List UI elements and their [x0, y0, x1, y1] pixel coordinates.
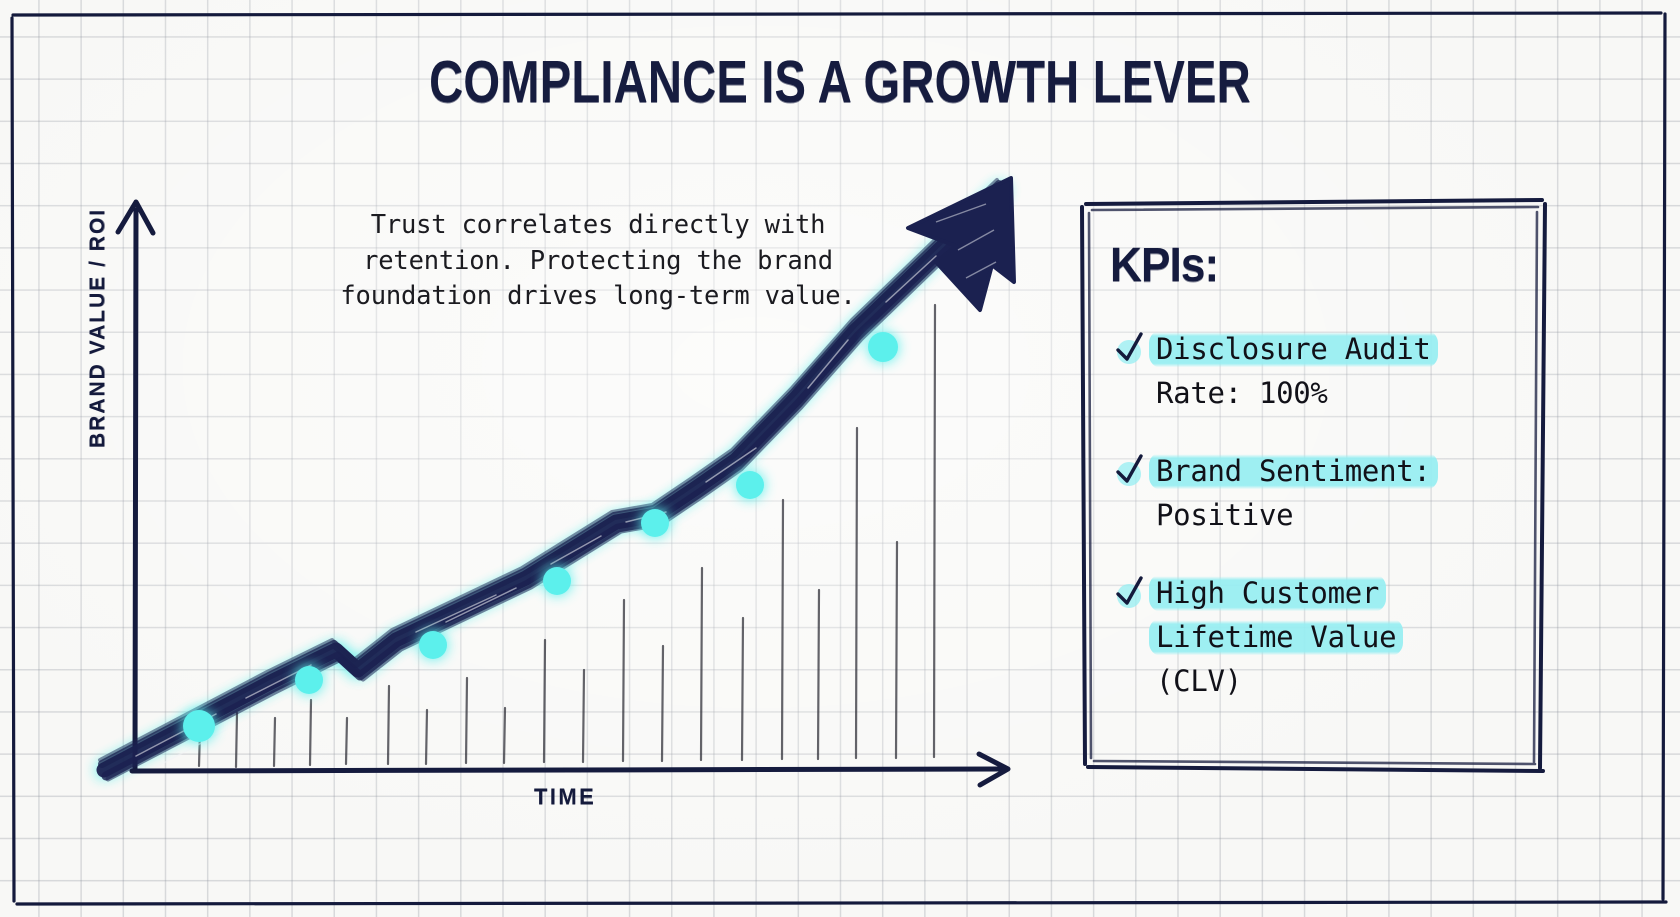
chart-annotation-text: Trust correlates directly with retention…	[330, 208, 866, 315]
y-axis	[118, 202, 153, 770]
kpi-list-item: Disclosure Audit Rate: 100%	[1110, 327, 1576, 415]
check-icon	[1114, 575, 1148, 609]
kpi-line: High Customer	[1156, 571, 1576, 615]
kpi-line-text: Rate: 100%	[1156, 376, 1328, 410]
kpi-list-item: Brand Sentiment: Positive	[1110, 449, 1576, 537]
data-point-7	[868, 332, 898, 362]
kpi-line: Brand Sentiment:	[1156, 449, 1576, 493]
kpi-line: (CLV)	[1156, 659, 1576, 703]
kpi-line-text: Disclosure Audit	[1149, 330, 1438, 368]
kpi-line-text: Brand Sentiment:	[1149, 452, 1438, 490]
kpi-line-text: High Customer	[1149, 574, 1386, 612]
check-icon	[1114, 331, 1148, 365]
trend-arrowhead	[908, 178, 1014, 310]
x-axis	[132, 754, 1008, 785]
kpi-line-text: (CLV)	[1156, 664, 1242, 698]
data-point-2	[295, 666, 323, 694]
data-point-6	[736, 471, 764, 499]
kpi-line: Lifetime Value	[1156, 615, 1576, 659]
kpi-list-item: High Customer Lifetime Value (CLV)	[1110, 571, 1576, 703]
data-point-1	[183, 710, 215, 742]
kpi-panel: KPIs: Disclosure Audit Rate: 100%	[1076, 196, 1546, 774]
kpi-line: Rate: 100%	[1156, 371, 1576, 415]
kpi-line: Disclosure Audit	[1156, 327, 1576, 371]
kpi-line-text: Positive	[1156, 498, 1293, 532]
page-title: COMPLIANCE IS A GROWTH LEVER	[168, 48, 1512, 116]
kpi-line: Positive	[1156, 493, 1576, 537]
kpi-line-text: Lifetime Value	[1149, 618, 1403, 656]
kpi-heading: KPIs:	[1110, 238, 1539, 293]
check-icon	[1114, 453, 1148, 487]
y-axis-label: BRAND VALUE / ROI	[86, 208, 110, 448]
data-point-4	[543, 567, 571, 595]
slide-canvas: COMPLIANCE IS A GROWTH LEVER	[0, 0, 1680, 917]
data-point-3	[419, 631, 447, 659]
data-point-5	[641, 509, 669, 537]
x-axis-label: TIME	[534, 784, 596, 810]
